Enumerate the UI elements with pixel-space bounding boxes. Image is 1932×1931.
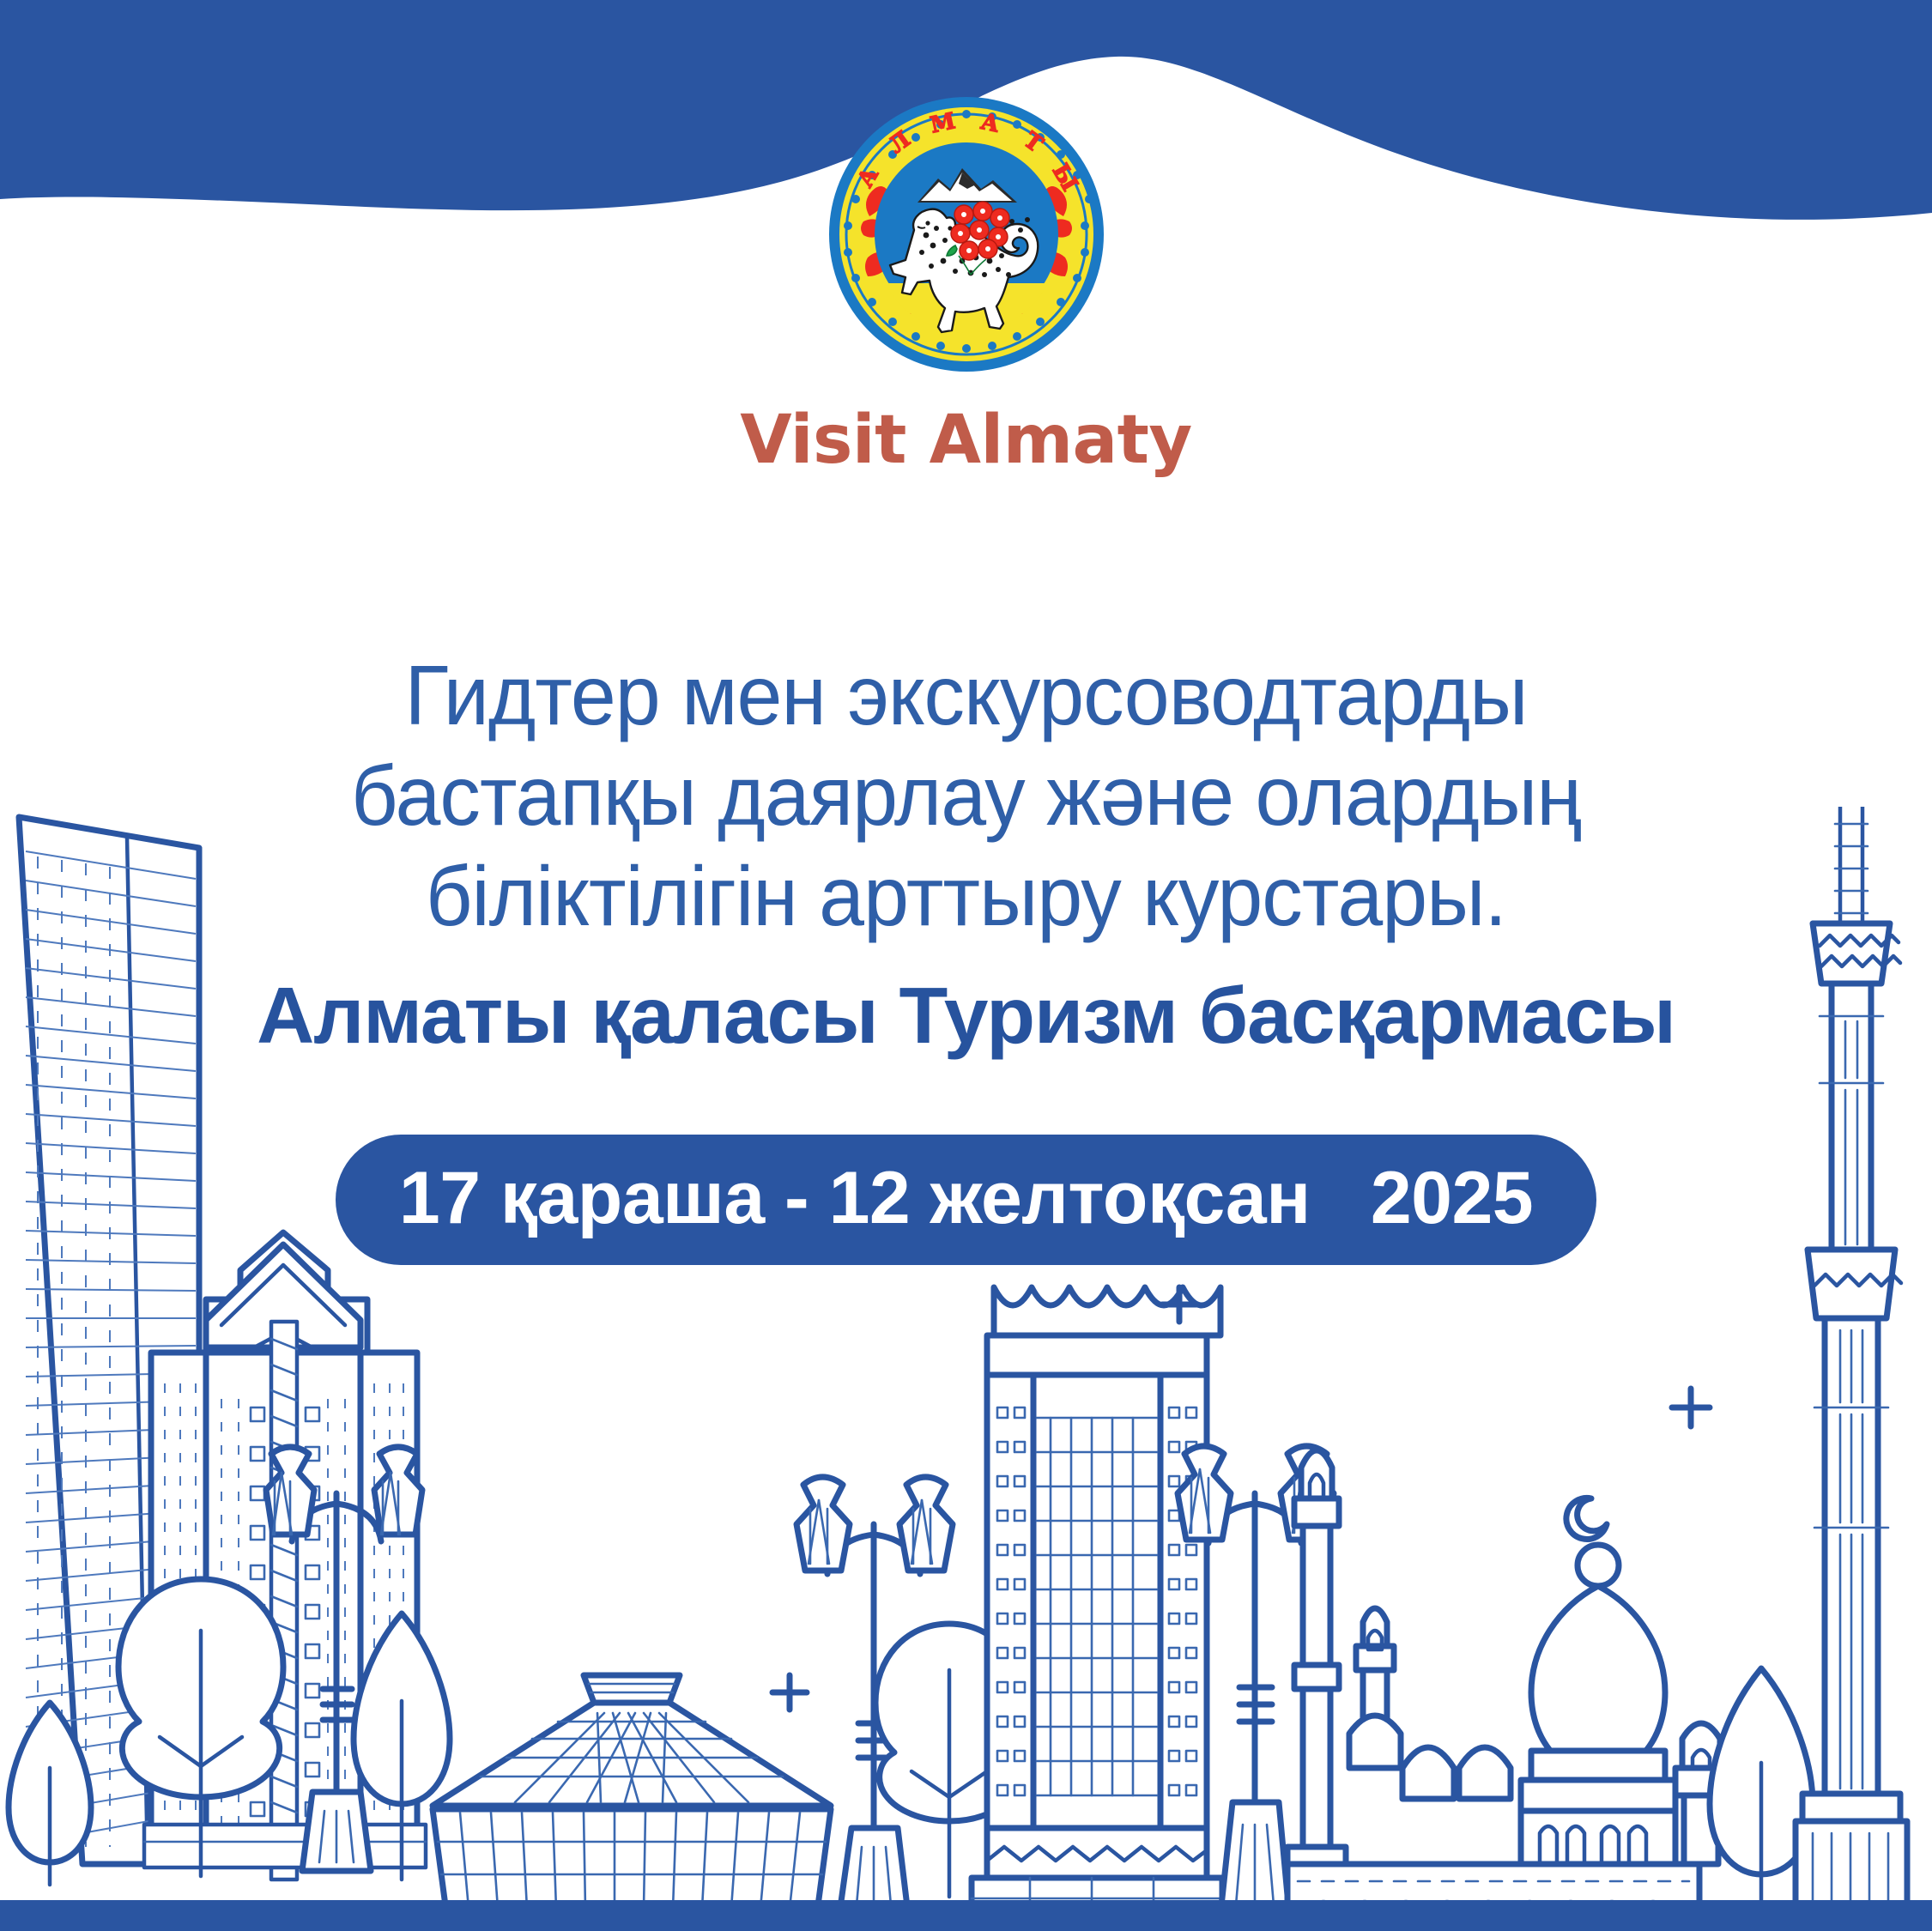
round-leaf-tree-center [875,1624,1023,1897]
poplar-tree-far-left [9,1703,91,1885]
hotel-kazakhstan [972,1287,1222,1931]
headline-line-3: біліктілігін арттыру курстары. [29,846,1903,947]
almaty-city-emblem: А Л М А Т Ы [825,93,1108,376]
mosque-minaret-left [1287,1450,1346,1895]
plus-mark-1 [772,1675,807,1710]
poplar-tree-right [1710,1668,1813,1922]
almaty-towers-peaked-building [144,1232,426,1880]
street-lamp-center [796,1477,953,1914]
mosque-main-dome [1521,1498,1675,1811]
almaty-circus-dome [422,1675,841,1931]
brand-wordmark: Visit Almaty [0,402,1932,479]
mosque-minaret-2 [1349,1608,1401,1768]
organizer-subtitle: Алматы қаласы Туризм басқармасы [0,970,1932,1061]
plus-mark-3 [1672,1389,1710,1426]
mosque-arcade-domes [1402,1747,1511,1799]
central-mosque [1287,1450,1727,1931]
round-leaf-tree-left [118,1579,283,1876]
svg-text:М: М [928,108,957,138]
plus-mark-2 [1162,1287,1196,1322]
headline-line-2: бастапқы даярлау және олардың [29,746,1903,846]
mosque-minaret-right [1675,1723,1727,1864]
event-date-badge: 17 қараша - 12 желтоқсан 2025 [336,1135,1596,1265]
page-title: Гидтер мен экскурсоводтарды бастапқы дая… [0,645,1932,947]
poster-canvas: А Л М А Т Ы [0,0,1932,1931]
ground-bar [0,1900,1932,1931]
poplar-tree-center-left [354,1613,450,1880]
street-lamp-right [1178,1446,1334,1914]
date-pill-container: 17 қараша - 12 желтоқсан 2025 [0,1135,1932,1265]
headline-line-1: Гидтер мен экскурсоводтарды [29,645,1903,746]
street-lamp-left [266,1447,422,1871]
